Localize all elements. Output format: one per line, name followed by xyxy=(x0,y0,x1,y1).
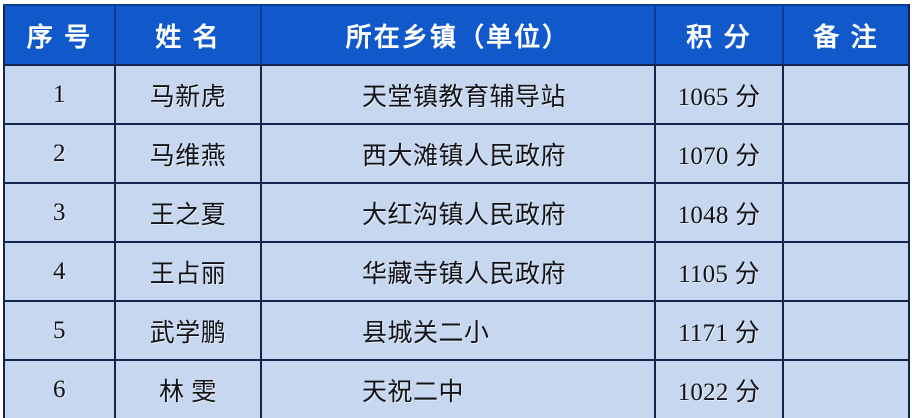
cell-score[interactable]: 1105 分 xyxy=(655,242,783,301)
cell-name[interactable]: 林 雯 xyxy=(115,360,261,418)
cell-score[interactable]: 1022 分 xyxy=(655,360,783,418)
column-header-note[interactable]: 备 注 xyxy=(783,5,909,65)
table-row[interactable]: 2 马维燕 西大滩镇人民政府 1070 分 xyxy=(4,124,909,183)
cell-unit[interactable]: 天堂镇教育辅导站 xyxy=(261,65,655,124)
column-header-score[interactable]: 积 分 xyxy=(655,5,783,65)
cell-note[interactable] xyxy=(783,242,909,301)
cell-score[interactable]: 1070 分 xyxy=(655,124,783,183)
cell-name[interactable]: 王之夏 xyxy=(115,183,261,242)
table-body: 1 马新虎 天堂镇教育辅导站 1065 分 2 马维燕 西大滩镇人民政府 107… xyxy=(4,65,909,418)
spreadsheet-sheet: 序 号 姓 名 所在乡镇（单位） 积 分 备 注 1 马新虎 天堂镇教育辅导站 … xyxy=(0,0,912,410)
cell-note[interactable] xyxy=(783,360,909,418)
table-row[interactable]: 1 马新虎 天堂镇教育辅导站 1065 分 xyxy=(4,65,909,124)
cell-score[interactable]: 1048 分 xyxy=(655,183,783,242)
cell-name[interactable]: 王占丽 xyxy=(115,242,261,301)
cell-index[interactable]: 1 xyxy=(4,65,115,124)
cell-index[interactable]: 4 xyxy=(4,242,115,301)
cell-note[interactable] xyxy=(783,183,909,242)
cell-index[interactable]: 2 xyxy=(4,124,115,183)
column-header-index[interactable]: 序 号 xyxy=(4,5,115,65)
score-table: 序 号 姓 名 所在乡镇（单位） 积 分 备 注 1 马新虎 天堂镇教育辅导站 … xyxy=(3,4,910,418)
cell-unit[interactable]: 大红沟镇人民政府 xyxy=(261,183,655,242)
table-row[interactable]: 6 林 雯 天祝二中 1022 分 xyxy=(4,360,909,418)
column-header-unit[interactable]: 所在乡镇（单位） xyxy=(261,5,655,65)
table-row[interactable]: 4 王占丽 华藏寺镇人民政府 1105 分 xyxy=(4,242,909,301)
cell-index[interactable]: 3 xyxy=(4,183,115,242)
cell-name[interactable]: 武学鹏 xyxy=(115,301,261,360)
cell-score[interactable]: 1065 分 xyxy=(655,65,783,124)
cell-unit[interactable]: 西大滩镇人民政府 xyxy=(261,124,655,183)
table-header-row: 序 号 姓 名 所在乡镇（单位） 积 分 备 注 xyxy=(4,5,909,65)
cell-index[interactable]: 5 xyxy=(4,301,115,360)
cell-name[interactable]: 马维燕 xyxy=(115,124,261,183)
cell-unit[interactable]: 天祝二中 xyxy=(261,360,655,418)
column-header-name[interactable]: 姓 名 xyxy=(115,5,261,65)
cell-unit[interactable]: 华藏寺镇人民政府 xyxy=(261,242,655,301)
cell-note[interactable] xyxy=(783,301,909,360)
cell-note[interactable] xyxy=(783,124,909,183)
cell-name[interactable]: 马新虎 xyxy=(115,65,261,124)
cell-score[interactable]: 1171 分 xyxy=(655,301,783,360)
cell-note[interactable] xyxy=(783,65,909,124)
table-row[interactable]: 3 王之夏 大红沟镇人民政府 1048 分 xyxy=(4,183,909,242)
table-header: 序 号 姓 名 所在乡镇（单位） 积 分 备 注 xyxy=(4,5,909,65)
cell-unit[interactable]: 县城关二小 xyxy=(261,301,655,360)
table-row[interactable]: 5 武学鹏 县城关二小 1171 分 xyxy=(4,301,909,360)
cell-index[interactable]: 6 xyxy=(4,360,115,418)
